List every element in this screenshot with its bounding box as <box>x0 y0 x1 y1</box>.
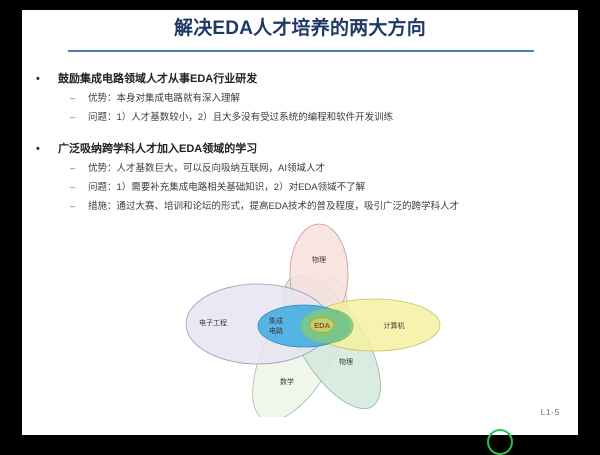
venn-label-integrated-circuits-line1: 集成 <box>269 316 283 325</box>
sub-bullet-item: – 问题：1）人才基数较小，2）且大多没有受过系统的编程和软件开发训练 <box>22 111 578 125</box>
title-divider <box>68 50 534 52</box>
sub-bullet-marker: – <box>70 181 75 195</box>
sub-bullet-item: – 优势：人才基数巨大，可以反向吸纳互联网，AI领域人才 <box>22 162 578 176</box>
bullet-label: 鼓励集成电路领域人才从事EDA行业研发 <box>58 73 257 85</box>
sub-bullet-item: – 问题：1）需要补充集成电路相关基础知识，2）对EDA领域不了解 <box>22 181 578 195</box>
bullet-item: • 广泛吸纳跨学科人才加入EDA领域的学习 <box>22 141 578 157</box>
slide-body: • 鼓励集成电路领域人才从事EDA行业研发 – 优势：本身对集成电路就有深入理解… <box>22 62 578 214</box>
venn-label-integrated-circuits-line2: 电路 <box>269 326 283 335</box>
venn-label-mathematics: 数学 <box>280 377 294 386</box>
bullet-marker: • <box>36 141 40 157</box>
venn-label-physics-right: 物理 <box>339 357 353 366</box>
slide-title-block: 解决EDA人才培养的两大方向 <box>22 16 578 42</box>
sub-bullet-item: – 优势：本身对集成电路就有深入理解 <box>22 92 578 106</box>
sub-bullet-marker: – <box>70 111 75 125</box>
sub-bullet-item: – 措施：通过大赛、培训和论坛的形式，提高EDA技术的普及程度，吸引广泛的跨学科… <box>22 200 578 214</box>
bullet-label: 广泛吸纳跨学科人才加入EDA领域的学习 <box>58 143 257 155</box>
sub-bullet-marker: – <box>70 200 75 214</box>
presentation-slide: 解决EDA人才培养的两大方向 • 鼓励集成电路领域人才从事EDA行业研发 – 优… <box>22 10 578 435</box>
page-title: 解决EDA人才培养的两大方向 <box>22 16 578 42</box>
sub-bullet-label: 问题：1）需要补充集成电路相关基础知识，2）对EDA领域不了解 <box>88 182 365 193</box>
venn-label-eda: EDA <box>314 321 330 330</box>
sub-bullet-label: 措施：通过大赛、培训和论坛的形式，提高EDA技术的普及程度，吸引广泛的跨学科人才 <box>88 201 459 212</box>
slide-number: L1-5 <box>541 407 560 417</box>
sub-bullet-marker: – <box>70 162 75 176</box>
sub-bullet-label: 问题：1）人才基数较小，2）且大多没有受过系统的编程和软件开发训练 <box>88 112 393 123</box>
venn-label-computer: 计算机 <box>384 321 405 330</box>
venn-diagram: 电子工程 物理 集成 电路 计算机 物理 数学 EDA <box>172 222 452 417</box>
venn-label-electronic-engineering: 电子工程 <box>199 318 227 327</box>
venn-label-physics-top: 物理 <box>312 255 326 264</box>
sub-bullet-marker: – <box>70 92 75 106</box>
record-indicator-icon <box>487 429 513 455</box>
bullet-marker: • <box>36 71 40 87</box>
sub-bullet-label: 优势：人才基数巨大，可以反向吸纳互联网，AI领域人才 <box>88 163 325 174</box>
video-frame: 解决EDA人才培养的两大方向 • 鼓励集成电路领域人才从事EDA行业研发 – 优… <box>0 0 600 445</box>
sub-bullet-label: 优势：本身对集成电路就有深入理解 <box>88 93 240 104</box>
bullet-item: • 鼓励集成电路领域人才从事EDA行业研发 <box>22 71 578 87</box>
